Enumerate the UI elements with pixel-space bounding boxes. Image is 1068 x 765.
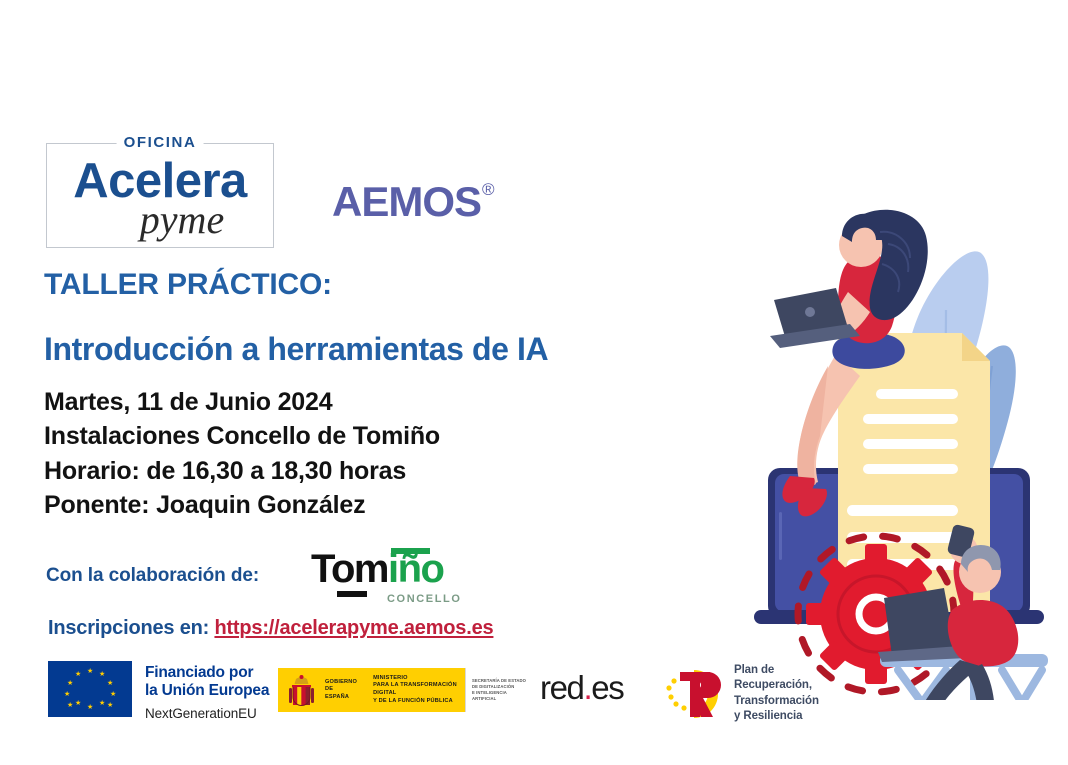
poster-canvas: OFICINA Acelera pyme AEMOS® TALLER PRÁCT… [0,0,1068,765]
redes-logo: red.es [540,671,623,704]
tomino-underline-bar [337,591,367,597]
gobierno-line2: DE ESPAÑA [325,686,357,701]
tomino-concello-logo: Tomiño CONCELLO [311,549,471,607]
event-detail-date: Martes, 11 de Junio 2024 [44,385,440,419]
secretary-text-group: SECRETARÍA DE ESTADO DE DIGITALIZACIÓN E… [472,678,527,702]
event-detail-schedule: Horario: de 16,30 a 18,30 horas [44,454,440,488]
ministry-line2: PARA LA TRANSFORMACIÓN DIGITAL [373,682,465,697]
gobierno-line1: GOBIERNO [325,679,357,687]
tomino-concello-subtitle: CONCELLO [387,593,462,605]
secretary-line1: SECRETARÍA DE ESTADO [472,678,527,684]
workshop-kicker: TALLER PRÁCTICO: [44,268,332,301]
gobierno-text-group: GOBIERNO DE ESPAÑA [325,679,357,702]
tomino-wordmark: Tomiño [311,549,443,589]
workshop-illustration [730,140,1060,700]
workshop-title: Introducción a herramientas de IA [44,332,548,367]
tr-mark-icon [664,668,726,720]
gobierno-yellow-block: GOBIERNO DE ESPAÑA MINISTERIO PARA LA TR… [278,668,465,712]
plan-line2: Recuperación, [734,678,819,693]
collaboration-label: Con la colaboración de: [46,565,259,587]
eu-funding-logo: ★ ★ ★ ★ ★ ★ ★ ★ ★ ★ ★ ★ Financiado por l… [48,661,269,721]
plan-recuperacion-text: Plan de Recuperación, Transformación y R… [734,663,819,724]
eu-funding-nextgen: NextGenerationEU [145,706,269,721]
aemos-logo-text: AEMOS [332,178,481,225]
tomino-tilde-bar [391,548,430,554]
content-column: OFICINA Acelera pyme AEMOS® TALLER PRÁCT… [0,0,700,765]
aemos-logo: AEMOS® [332,181,493,223]
ministry-text-group: MINISTERIO PARA LA TRANSFORMACIÓN DIGITA… [373,675,465,705]
plan-line1: Plan de [734,663,819,678]
funding-logo-bar: ★ ★ ★ ★ ★ ★ ★ ★ ★ ★ ★ ★ Financiado por l… [0,657,1068,727]
event-details: Martes, 11 de Junio 2024 Instalaciones C… [44,385,440,522]
aemos-registered-mark: ® [482,180,494,199]
redes-part1: red [540,669,584,706]
secretary-line3: E INTELIGENCIA ARTIFICIAL [472,690,527,702]
plan-line3: Transformación [734,694,819,709]
registration-line: Inscripciones en: https://acelerapyme.ae… [48,617,493,640]
acelera-pyme-oficina-label: OFICINA [117,135,204,150]
plan-recuperacion-logo: Plan de Recuperación, Transformación y R… [664,663,819,724]
redes-part2: es [591,669,623,706]
event-detail-venue: Instalaciones Concello de Tomiño [44,419,440,453]
registration-label: Inscripciones en: [48,617,209,639]
acelera-pyme-pyme-word: pyme [47,200,273,240]
gobierno-espana-ministry-logo: GOBIERNO DE ESPAÑA MINISTERIO PARA LA TR… [278,668,528,712]
tomino-word-black: Tom [311,547,388,591]
event-detail-speaker: Ponente: Joaquin González [44,488,440,522]
spain-coat-of-arms-icon [287,674,316,706]
eu-funding-line1: Financiado por [145,664,269,682]
registration-url-link[interactable]: https://acelerapyme.aemos.es [214,617,493,639]
plan-line4: y Resiliencia [734,709,819,724]
ministry-line3: Y DE LA FUNCIÓN PÚBLICA [373,698,465,706]
eu-funding-line2: la Unión Europea [145,682,269,700]
eu-flag-icon: ★ ★ ★ ★ ★ ★ ★ ★ ★ ★ ★ ★ [48,661,132,717]
acelera-pyme-logo: OFICINA Acelera pyme [46,143,274,248]
brand-logo-row: OFICINA Acelera pyme AEMOS® [46,143,493,248]
eu-funding-text: Financiado por la Unión Europea NextGene… [145,661,269,721]
secretary-of-state-block: SECRETARÍA DE ESTADO DE DIGITALIZACIÓN E… [465,668,527,712]
